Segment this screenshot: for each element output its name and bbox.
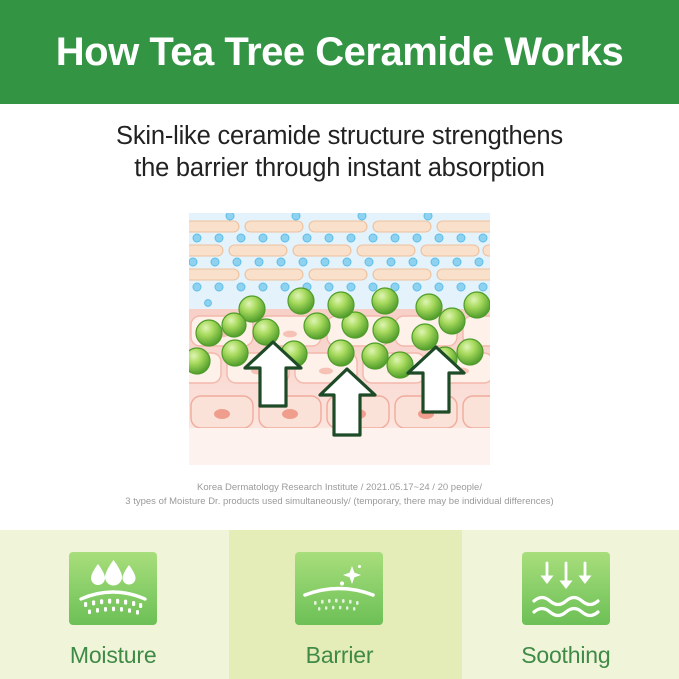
page-title: How Tea Tree Ceramide Works [56, 32, 623, 72]
benefit-item-soothing[interactable]: Soothing [453, 530, 679, 679]
skin-cross-section-illustration [189, 213, 490, 465]
product-detail-page: How Tea Tree Ceramide Works Skin-like ce… [0, 0, 679, 679]
benefit-label-soothing: Soothing [521, 642, 610, 668]
skin-barrier-sparkle-icon [295, 552, 383, 625]
down-arrows-waves-icon [522, 552, 610, 625]
page-header: How Tea Tree Ceramide Works [0, 0, 679, 104]
subtitle-line-1: Skin-like ceramide structure strengthens [116, 120, 563, 152]
subtitle-block: Skin-like ceramide structure strengthens… [0, 104, 679, 200]
benefit-label-moisture: Moisture [70, 642, 157, 668]
benefit-item-moisture[interactable]: Moisture [0, 530, 226, 679]
benefits-strip: Moisture [0, 530, 679, 679]
caption-line-1: Korea Dermatology Research Institute / 2… [0, 481, 679, 495]
benefit-item-barrier[interactable]: Barrier [226, 530, 452, 679]
subtitle-line-2: the barrier through instant absorption [134, 152, 545, 184]
water-drops-skin-icon [69, 552, 157, 625]
benefit-label-barrier: Barrier [306, 642, 374, 668]
caption-line-2: 3 types of Moisture Dr. products used si… [0, 495, 679, 509]
study-caption: Korea Dermatology Research Institute / 2… [0, 481, 679, 508]
